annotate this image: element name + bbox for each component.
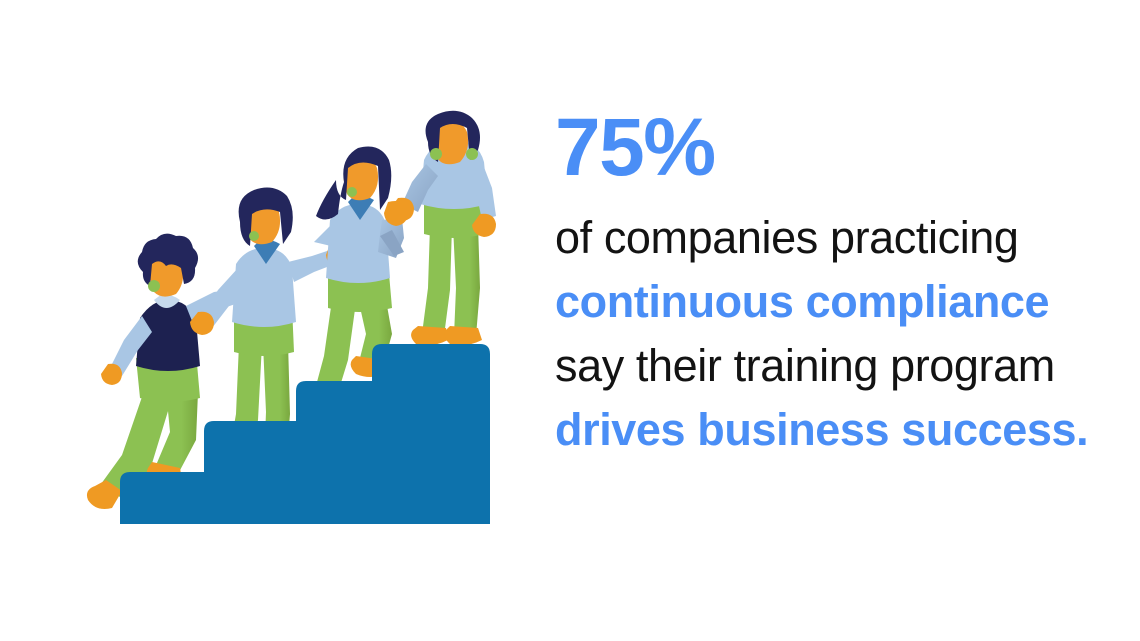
climber-1-earring xyxy=(148,280,160,292)
stat-text-block: 75% of companies practicing continuous c… xyxy=(555,104,1100,462)
climber-3-earring xyxy=(347,187,357,197)
statement-segment-plain-1: of companies practicing xyxy=(555,212,1019,263)
climber-4-earring-right xyxy=(466,148,478,160)
statement-segment-highlight-2: drives business success. xyxy=(555,404,1088,455)
climber-4-earring-left xyxy=(430,148,442,160)
climber-4-back-leg xyxy=(422,226,452,336)
climber-2-earring xyxy=(249,231,259,241)
statement-segment-plain-2: say their training program xyxy=(555,340,1055,391)
climber-4-front-leg xyxy=(453,224,480,336)
infographic-canvas: 75% of companies practicing continuous c… xyxy=(0,0,1140,641)
statement-segment-highlight-1: continuous compliance xyxy=(555,276,1049,327)
people-climbing-stairs-illustration xyxy=(0,0,540,641)
stat-statement: of companies practicing continuous compl… xyxy=(555,206,1100,462)
climber-4-back-shoe xyxy=(411,326,448,345)
climber-4-highest xyxy=(390,111,496,346)
climber-1-lower-hand xyxy=(101,364,122,385)
climber-4-front-shoe xyxy=(445,326,482,345)
stat-big-number: 75% xyxy=(555,104,1100,192)
